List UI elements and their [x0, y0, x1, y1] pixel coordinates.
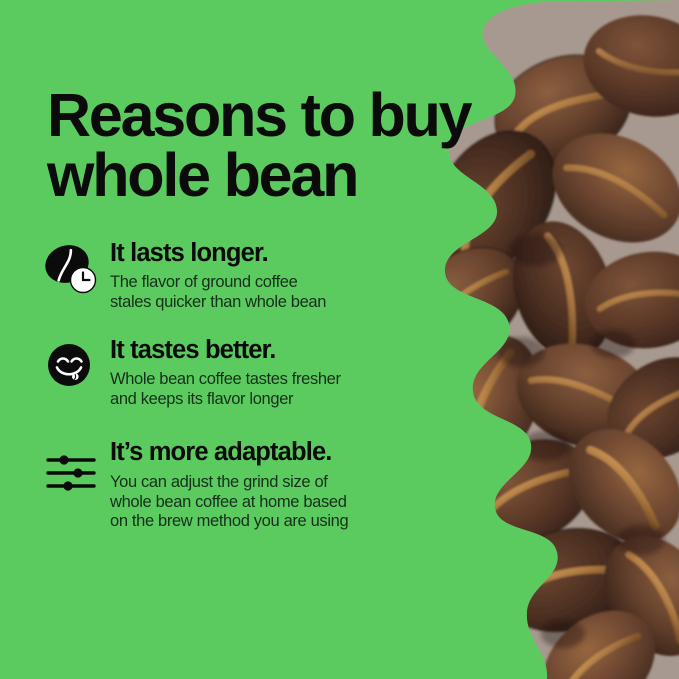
list-item-description: You can adjust the grind size of whole b… [110, 473, 463, 532]
list-item: It’s more adaptable. You can adjust the … [43, 437, 463, 532]
coffee-bean-clock-icon [43, 240, 99, 296]
list-item-description: Whole bean coffee tastes fresher and kee… [110, 370, 463, 409]
list-item: It lasts longer. The flavor of ground co… [43, 238, 463, 312]
page-title: Reasons to buy whole bean [47, 85, 517, 205]
sliders-adjust-icon [43, 445, 99, 501]
list-item: It tastes better. Whole bean coffee tast… [43, 335, 463, 409]
poster-canvas: Reasons to buy whole bean It lasts longe… [0, 0, 679, 679]
smiling-face-tongue-icon [43, 337, 99, 393]
list-item-title: It lasts longer. [110, 238, 463, 268]
list-item-title: It’s more adaptable. [110, 437, 463, 467]
list-item-title: It tastes better. [110, 335, 463, 365]
list-item-description: The flavor of ground coffee stales quick… [110, 273, 463, 312]
reasons-list: It lasts longer. The flavor of ground co… [43, 238, 463, 532]
